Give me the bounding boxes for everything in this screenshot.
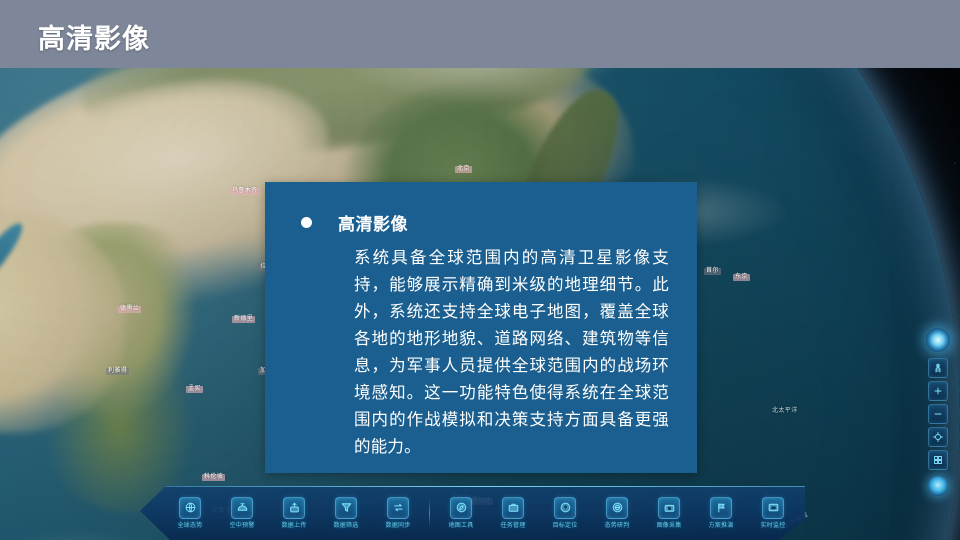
- crosshair-icon[interactable]: [928, 427, 948, 447]
- toolbar-item-label: 任务管理: [501, 523, 526, 530]
- page-header: 高清影像: [0, 0, 960, 68]
- toolbar-item-label: 方案推演: [709, 523, 734, 530]
- radar-dome-icon[interactable]: [231, 497, 253, 519]
- filter-funnel-icon[interactable]: [335, 497, 357, 519]
- grid-icon[interactable]: [928, 450, 948, 470]
- app-screen: 乌鲁木齐北京西安上海成都拉萨广州昆明香港德黑兰新德里利雅得孟买加尔各答东京首尔马…: [0, 0, 960, 540]
- exchange-icon[interactable]: [387, 497, 409, 519]
- toolbar-item-label: 空中预警: [230, 523, 255, 530]
- compass-icon[interactable]: [450, 497, 472, 519]
- briefcase-icon[interactable]: [502, 497, 524, 519]
- toolbar-item-2[interactable]: 数据上传: [268, 497, 320, 530]
- toolbar-item-0[interactable]: 全球态势: [164, 497, 216, 530]
- toolbar-item-label: 数据筛选: [334, 523, 359, 530]
- minus-icon[interactable]: [928, 404, 948, 424]
- page-title: 高清影像: [38, 17, 150, 56]
- target-ring-icon[interactable]: [606, 497, 628, 519]
- location-pin-icon[interactable]: [554, 497, 576, 519]
- toolbar-item-label: 目标定位: [553, 523, 578, 530]
- toolbar-item-label: 实时监控: [761, 523, 786, 530]
- toolbar-item-7[interactable]: 任务管理: [487, 497, 539, 530]
- toolbar-separator: [429, 499, 430, 527]
- toolbar-item-9[interactable]: 态势研判: [591, 497, 643, 530]
- info-card-body: 系统具备全球范围内的高清卫星影像支持，能够展示精确到米级的地理细节。此外，系统还…: [354, 245, 669, 461]
- flag-icon[interactable]: [710, 497, 732, 519]
- bullet-dot-icon: [301, 217, 312, 228]
- question-icon[interactable]: [928, 476, 948, 496]
- toolbar-item-1[interactable]: 空中预警: [216, 497, 268, 530]
- toolbar-item-label: 全球态势: [178, 523, 203, 530]
- toolbar-item-label: 数据上传: [282, 523, 307, 530]
- toolbar-item-6[interactable]: 地图工具: [435, 497, 487, 530]
- toolbar-item-4[interactable]: 数据同步: [372, 497, 424, 530]
- toolbar-item-12[interactable]: 实时监控: [747, 497, 799, 530]
- toolbar-item-11[interactable]: 方案推演: [695, 497, 747, 530]
- upload-box-icon[interactable]: [283, 497, 305, 519]
- person-icon[interactable]: [928, 358, 948, 378]
- info-card-title: 高清影像: [338, 210, 408, 235]
- toolbar-item-label: 地图工具: [449, 523, 474, 530]
- info-card: 高清影像 系统具备全球范围内的高清卫星影像支持，能够展示精确到米级的地理细节。此…: [265, 182, 697, 473]
- compass-rose-icon[interactable]: [926, 328, 950, 352]
- toolbar-item-3[interactable]: 数据筛选: [320, 497, 372, 530]
- toolbar-item-label: 态势研判: [605, 523, 630, 530]
- toolbar-item-label: 数据同步: [386, 523, 411, 530]
- globe-view-icon[interactable]: [179, 497, 201, 519]
- toolbar-item-10[interactable]: 图像采集: [643, 497, 695, 530]
- info-card-header: 高清影像: [301, 210, 669, 235]
- camera-icon[interactable]: [658, 497, 680, 519]
- bottom-toolbar[interactable]: 全球态势空中预警数据上传数据筛选数据同步地图工具任务管理目标定位态势研判图像采集…: [140, 486, 805, 540]
- toolbar-item-8[interactable]: 目标定位: [539, 497, 591, 530]
- toolbar-items[interactable]: 全球态势空中预警数据上传数据筛选数据同步地图工具任务管理目标定位态势研判图像采集…: [140, 486, 805, 540]
- plus-icon[interactable]: [928, 381, 948, 401]
- map-control-rail[interactable]: [926, 328, 950, 499]
- toolbar-item-label: 图像采集: [657, 523, 682, 530]
- monitor-icon[interactable]: [762, 497, 784, 519]
